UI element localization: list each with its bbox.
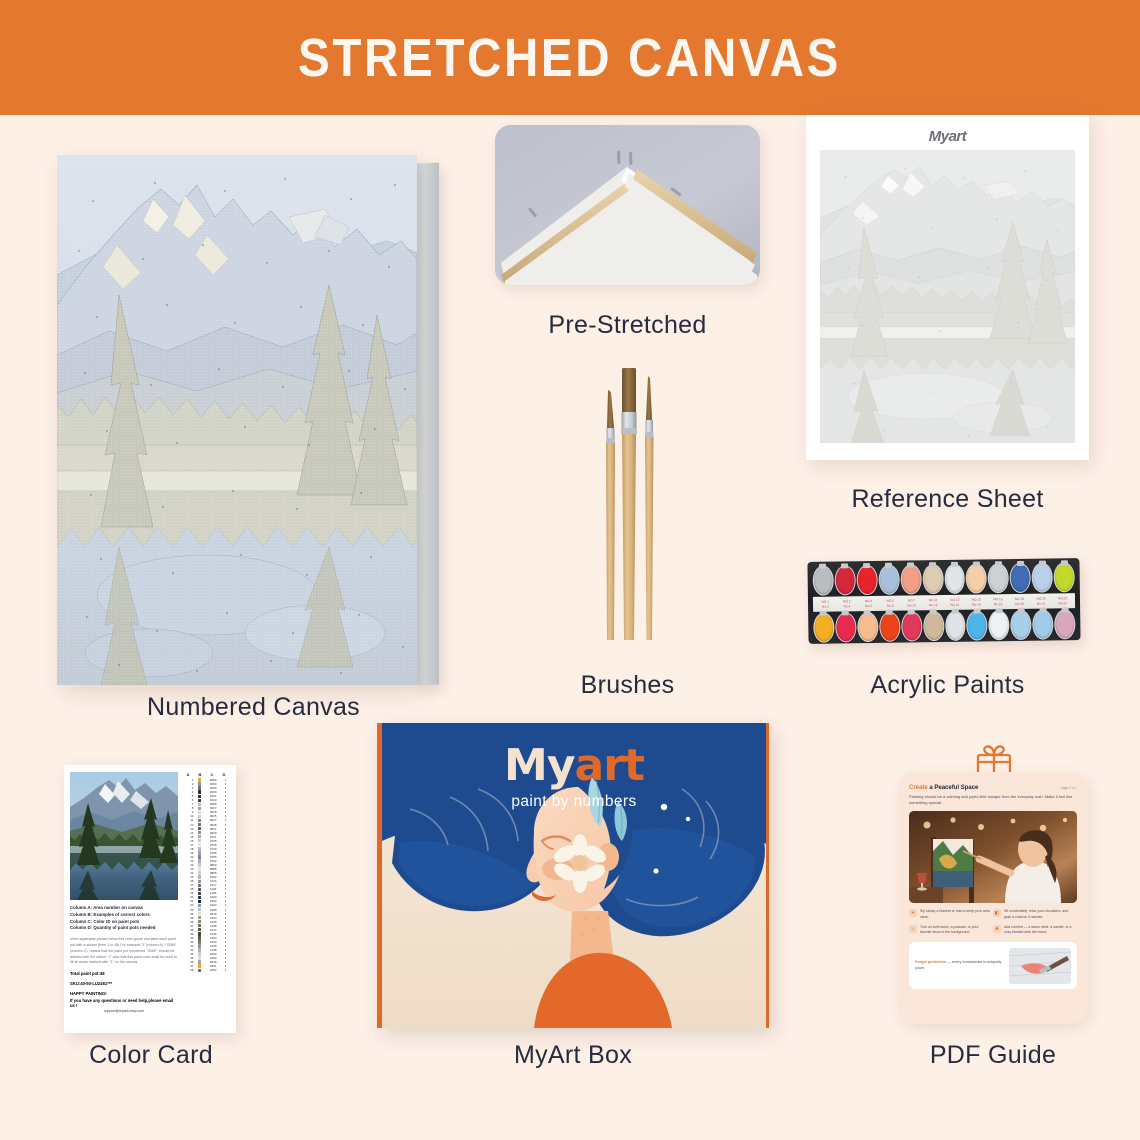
cc-color-swatch: [198, 790, 201, 793]
pdf-tip-item: ♪Turn on soft music, a podcast, or your …: [909, 925, 993, 936]
cc-swatch-cell: [194, 843, 205, 846]
paint-pot-row-top: [812, 562, 1074, 596]
pdf-guide-note: Forget perfection — every brushstroke is…: [909, 942, 1077, 989]
cc-swatch-cell: [194, 900, 205, 903]
cc-swatch-cell: [194, 863, 205, 866]
paint-pot: [1032, 562, 1053, 592]
cc-swatch-cell: [194, 892, 205, 895]
pdf-note-accent: Forget perfection: [915, 960, 946, 964]
cc-swatch-cell: [194, 912, 205, 915]
cc-swatch-cell: [194, 952, 205, 955]
paint-by-numbers-artwork: [57, 155, 417, 685]
pdf-guide-intro: Painting should be a calming and joyful …: [909, 794, 1077, 806]
cc-swatch-cell: [194, 823, 205, 826]
cc-swatch-cell: [194, 888, 205, 891]
cc-swatch-cell: [194, 956, 205, 959]
cc-color-swatch: [198, 871, 201, 874]
cc-color-swatch: [198, 896, 201, 899]
paint-pot: [1010, 563, 1031, 593]
pre-stretched-photo: [495, 125, 760, 285]
myart-logo-text: Myart: [382, 740, 766, 791]
candle-icon: ❋: [993, 925, 1001, 933]
page-header: STRETCHED CANVAS: [0, 0, 1140, 115]
page-title: STRETCHED CANVAS: [299, 27, 842, 89]
cc-color-swatch: [198, 948, 201, 951]
reference-sheet-item: Myart: [806, 115, 1089, 460]
logo-art: art: [575, 740, 644, 791]
cc-swatch-cell: [194, 835, 205, 838]
pdf-guide-heading: Create a Peaceful Space: [909, 785, 978, 791]
cc-swatch-cell: [194, 928, 205, 931]
myart-box-packaging: Myart paint by numbers: [377, 723, 769, 1028]
cc-swatch-cell: [194, 960, 205, 963]
cc-color-swatch: [198, 843, 201, 846]
cc-swatch-cell: [194, 811, 205, 814]
cc-color-swatch: [198, 815, 201, 818]
color-card-email: support@myart-shop.com: [70, 1009, 178, 1013]
cc-color-swatch: [198, 912, 201, 915]
cc-color-swatch: [198, 823, 201, 826]
paint-pot-label: NO.3No.6: [858, 599, 879, 608]
paint-pot-label: NO.2No.4: [837, 600, 858, 609]
cc-color-swatch: [198, 944, 201, 947]
color-card-happy-painting: HAPPY PAINTING!: [70, 991, 178, 996]
pdf-tip-text: Turn on soft music, a podcast, or your f…: [920, 925, 990, 936]
cc-color-id: 2052: [205, 968, 221, 972]
reference-sheet-logo: Myart: [820, 128, 1075, 150]
cc-color-swatch: [198, 819, 201, 822]
paint-pot: [945, 611, 966, 641]
paint-tray: NO.1No.2NO.2No.4NO.3No.6NO.5No.8NO.7No.1…: [807, 558, 1080, 644]
paint-pot-label: NO.15No.19: [988, 597, 1009, 606]
cc-swatch-cell: [194, 778, 205, 781]
cc-color-swatch: [198, 940, 201, 943]
column-b-legend: Column B: Examples of correct colors: [70, 912, 178, 919]
cc-swatch-cell: [194, 799, 205, 802]
column-a-legend: Column A: Area number on canvas: [70, 905, 178, 912]
cc-area-number: 48: [182, 968, 194, 972]
pdf-tip-item: ◧Sit comfortably, relax your shoulders, …: [993, 909, 1077, 920]
cc-color-swatch: [198, 880, 201, 883]
paint-pot-row-bottom: [813, 609, 1075, 643]
cc-swatch-cell: [194, 831, 205, 834]
logo-my: My: [504, 740, 574, 791]
paint-pot: [879, 612, 900, 642]
cc-swatch-cell: [194, 807, 205, 810]
woman-painting-photo: [909, 811, 1077, 903]
paint-pot-label: NO.22No.24: [1052, 597, 1073, 606]
color-card-item: Column A: Area number on canvas Column B…: [64, 765, 236, 1033]
cc-swatch-cell: [194, 880, 205, 883]
color-card-left-column: Column A: Area number on canvas Column B…: [70, 772, 178, 1026]
paint-pot: [901, 611, 922, 641]
caption-pdf-guide: PDF Guide: [848, 1041, 1138, 1070]
cc-swatch-cell: [194, 940, 205, 943]
paint-pot: [1032, 609, 1053, 639]
cc-color-swatch: [198, 888, 201, 891]
cc-color-swatch: [198, 900, 201, 903]
paint-pot-label: NO.1No.2: [815, 600, 836, 609]
cc-color-swatch: [198, 778, 201, 781]
cc-swatch-cell: [194, 908, 205, 911]
pdf-tip-text: Sip slowly a blanket or mat to keep your…: [920, 909, 990, 920]
color-card-total-pots: Total paint pot:48: [70, 971, 178, 976]
cc-color-swatch: [198, 928, 201, 931]
color-card-preview-image: [70, 772, 178, 900]
color-card-col-header: C: [206, 772, 218, 777]
cc-color-swatch: [198, 920, 201, 923]
cc-color-swatch: [198, 851, 201, 854]
cc-color-swatch: [198, 884, 201, 887]
cc-swatch-cell: [194, 855, 205, 858]
paint-pot: [812, 566, 833, 596]
paint-pot: [856, 565, 877, 595]
myart-box-tagline: paint by numbers: [382, 793, 766, 811]
reference-sheet-paper: Myart: [806, 115, 1089, 460]
cc-color-swatch: [198, 932, 201, 935]
paint-pot: [923, 611, 944, 641]
cc-color-swatch: [198, 782, 201, 785]
color-card-contact: If you have any questions or need help,p…: [70, 998, 178, 1008]
cc-swatch-cell: [194, 875, 205, 878]
cc-color-swatch: [198, 831, 201, 834]
cc-swatch-cell: [194, 969, 205, 972]
cc-color-swatch: [198, 795, 201, 798]
product-contents-grid: Numbered Canvas: [0, 115, 1140, 1140]
pdf-tip-text: Sit comfortably, relax your shoulders, a…: [1004, 909, 1074, 920]
cc-swatch-cell: [194, 839, 205, 842]
cc-color-swatch: [198, 952, 201, 955]
color-card-col-header: A: [182, 772, 194, 777]
cc-color-swatch: [198, 875, 201, 878]
color-card-column-legend: Column A: Area number on canvas Column B…: [70, 905, 178, 932]
paint-pot: [944, 564, 965, 594]
paint-pot: [922, 564, 943, 594]
caption-brushes: Brushes: [470, 671, 785, 700]
cc-color-swatch: [198, 924, 201, 927]
acrylic-paints-item: NO.1No.2NO.2No.4NO.3No.6NO.5No.8NO.7No.1…: [808, 560, 1080, 645]
chair-icon: ◧: [993, 909, 1001, 917]
cc-swatch-cell: [194, 904, 205, 907]
paint-pot: [966, 563, 987, 593]
cc-color-swatch: [198, 867, 201, 870]
caption-numbered-canvas: Numbered Canvas: [57, 693, 450, 722]
cc-quantity: 1: [221, 968, 230, 972]
myart-box-logo: Myart paint by numbers: [382, 740, 766, 811]
paint-pot: [878, 565, 899, 595]
lamp-icon: ✦: [909, 909, 917, 917]
caption-myart-box: MyArt Box: [418, 1041, 728, 1070]
cc-swatch-cell: [194, 948, 205, 951]
brush-flat-center: [621, 368, 637, 640]
color-card-col-header: B: [194, 772, 206, 777]
cc-swatch-cell: [194, 847, 205, 850]
color-preview-artwork: [70, 772, 178, 900]
paint-pot-label: NO.18No.20: [1009, 597, 1030, 606]
cc-color-swatch: [198, 863, 201, 866]
paint-pot: [1054, 609, 1075, 639]
grayscale-artwork: [820, 150, 1075, 443]
cc-color-swatch: [198, 827, 201, 830]
paint-pot: [967, 610, 988, 640]
pdf-heading-accent: Create: [909, 785, 928, 791]
cc-swatch-cell: [194, 924, 205, 927]
cc-color-swatch: [198, 960, 201, 963]
pdf-tip-item: ✦Sip slowly a blanket or mat to keep you…: [909, 909, 993, 920]
music-icon: ♪: [909, 925, 917, 933]
cc-swatch-cell: [194, 803, 205, 806]
cc-color-swatch: [198, 892, 201, 895]
cc-swatch-cell: [194, 920, 205, 923]
color-card-row: 4820521: [182, 968, 230, 972]
column-d-legend: Column D: Quantity of paint pots needed: [70, 925, 178, 932]
brushes-item: [570, 350, 690, 650]
color-card-paper: Column A: Area number on canvas Column B…: [64, 765, 236, 1033]
pdf-tip-item: ❋Add comfort — a warm drink, a candle, o…: [993, 925, 1077, 936]
paint-pot: [813, 613, 834, 643]
cc-swatch-cell: [194, 782, 205, 785]
color-card-table-body: 1008912009013009514009915010116010317060…: [182, 778, 230, 972]
paint-pot: [900, 564, 921, 594]
cc-swatch-cell: [194, 790, 205, 793]
cc-swatch-cell: [194, 896, 205, 899]
numbered-canvas-image: [57, 155, 417, 685]
cc-color-swatch: [198, 859, 201, 862]
pdf-note-text: Forget perfection — every brushstroke is…: [915, 960, 1004, 971]
pdf-page-number: page 1 of 1: [1061, 786, 1077, 790]
cc-swatch-cell: [194, 916, 205, 919]
cc-swatch-cell: [194, 964, 205, 967]
paint-pot-label: NO.5No.8: [880, 599, 901, 608]
cc-color-swatch: [198, 964, 201, 967]
paint-pot: [1054, 562, 1075, 592]
pdf-guide-item: Create a Peaceful Space page 1 of 1 Pain…: [898, 740, 1088, 1030]
paint-pot-label: NO.20No.21: [1031, 597, 1052, 606]
canvas-wrapped-edge: [415, 163, 439, 685]
cc-swatch-cell: [194, 932, 205, 935]
caption-reference-sheet: Reference Sheet: [790, 485, 1105, 514]
cc-swatch-cell: [194, 871, 205, 874]
paint-pot: [834, 565, 855, 595]
cc-color-swatch: [198, 839, 201, 842]
color-card-instructions: when applicable,please follow this color…: [70, 937, 178, 966]
color-card-col-header: D: [218, 772, 230, 777]
cc-swatch-cell: [194, 859, 205, 862]
cc-color-swatch: [198, 908, 201, 911]
cc-swatch-cell: [194, 944, 205, 947]
cc-color-swatch: [198, 786, 201, 789]
paint-pot: [988, 563, 1009, 593]
cc-swatch-cell: [194, 819, 205, 822]
cc-color-swatch: [198, 799, 201, 802]
paint-pot-label: NO.13No.15: [966, 598, 987, 607]
cc-color-swatch: [198, 916, 201, 919]
caption-acrylic-paints: Acrylic Paints: [790, 671, 1105, 700]
pdf-guide-photo: [909, 811, 1077, 903]
column-c-legend: Column C: Color ID on paint pots: [70, 919, 178, 926]
cc-color-swatch: [198, 956, 201, 959]
paint-pot-label: NO.12No.14: [944, 598, 965, 607]
pre-stretched-item: [495, 125, 760, 290]
cc-swatch-cell: [194, 867, 205, 870]
caption-pre-stretched: Pre-Stretched: [470, 311, 785, 340]
cc-color-swatch: [198, 855, 201, 858]
paint-pot: [989, 610, 1010, 640]
cc-color-swatch: [198, 835, 201, 838]
brushes-illustration: [570, 350, 690, 650]
color-card-sku: SKU:40-50-LU2461***: [70, 981, 178, 986]
cc-swatch-cell: [194, 884, 205, 887]
paint-pot: [835, 612, 856, 642]
cc-color-swatch: [198, 936, 201, 939]
cc-swatch-cell: [194, 786, 205, 789]
paint-pot: [857, 612, 878, 642]
pdf-guide-tips: ✦Sip slowly a blanket or mat to keep you…: [909, 909, 1077, 940]
pdf-guide-page: Create a Peaceful Space page 1 of 1 Pain…: [898, 772, 1088, 1024]
cc-color-swatch: [198, 807, 201, 810]
cc-swatch-cell: [194, 827, 205, 830]
color-card-table: ABCD 10089120090130095140099150101160103…: [182, 772, 230, 1026]
cc-swatch-cell: [194, 851, 205, 854]
cc-color-swatch: [198, 803, 201, 806]
cc-color-swatch: [198, 969, 201, 972]
pdf-guide-heading-row: Create a Peaceful Space page 1 of 1: [909, 785, 1077, 791]
brush-liner-left: [606, 390, 615, 640]
paint-pot: [1010, 610, 1031, 640]
cc-color-swatch: [198, 811, 201, 814]
cc-color-swatch: [198, 847, 201, 850]
myart-box-item: Myart paint by numbers: [377, 723, 769, 1028]
numbered-canvas-item: [57, 155, 450, 685]
pdf-note-image: [1009, 948, 1071, 984]
reference-sheet-image: [820, 150, 1075, 443]
paint-pot-label: NO.11No.13: [923, 598, 944, 607]
pdf-tip-text: Add comfort — a warm drink, a candle, or…: [1004, 925, 1074, 936]
paint-pot-label: NO.7No.12: [901, 599, 922, 608]
cc-swatch-cell: [194, 815, 205, 818]
cc-swatch-cell: [194, 936, 205, 939]
cc-color-swatch: [198, 904, 201, 907]
cc-swatch-cell: [194, 795, 205, 798]
brush-liner-right: [645, 376, 654, 640]
pdf-heading-rest: a Peaceful Space: [929, 785, 978, 791]
canvas-corner-illustration: [495, 125, 760, 285]
caption-color-card: Color Card: [40, 1041, 262, 1070]
brush-swatch-illustration: [1009, 948, 1071, 984]
